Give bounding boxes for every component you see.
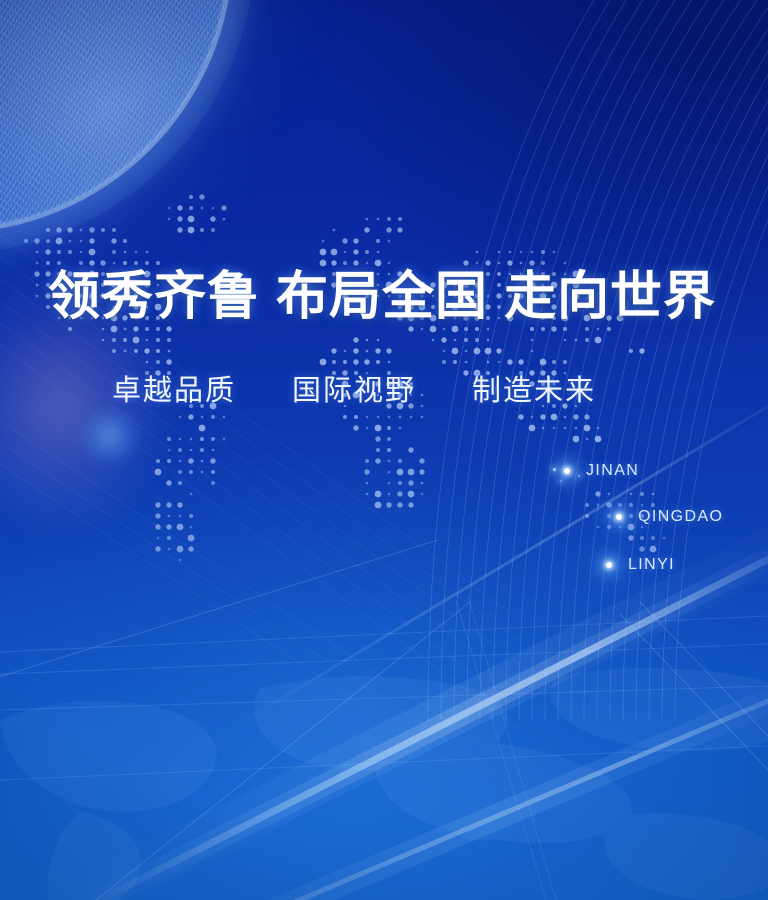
dot-matrix-world-map xyxy=(0,182,768,652)
city-marker-jinan[interactable]: JINAN xyxy=(564,462,639,480)
earth-surface-texture xyxy=(0,0,230,230)
perspective-grid-lines xyxy=(0,540,768,900)
city-marker-qingdao[interactable]: QINGDAO xyxy=(616,508,723,526)
earth-atmosphere-rim xyxy=(0,0,233,233)
earth-globe-limb xyxy=(0,0,230,230)
earth-body xyxy=(0,0,230,230)
headline-part-2: 布局全国 xyxy=(276,269,488,326)
city-dot-marker-icon xyxy=(616,514,622,520)
city-label-jinan: JINAN xyxy=(586,462,639,480)
concentric-arc-swoosh-graphic xyxy=(258,0,768,720)
vignette-layer xyxy=(0,0,768,900)
subline-part-1: 卓越品质 xyxy=(112,375,236,407)
top-right-shadow-layer xyxy=(0,0,768,900)
hero-banner: 领秀齐鲁布局全国走向世界 卓越品质国际视野制造未来 JINAN QINGDAO … xyxy=(0,0,768,900)
earth-atmosphere-halo xyxy=(0,0,254,254)
city-label-qingdao: QINGDAO xyxy=(638,508,723,526)
center-glow-layer xyxy=(0,0,768,900)
sparkle-dot-c xyxy=(560,480,562,482)
banner-subheadline: 卓越品质国际视野制造未来 xyxy=(112,372,712,410)
subline-part-3: 制造未来 xyxy=(472,375,596,407)
city-marker-linyi[interactable]: LINYI xyxy=(606,556,675,574)
diagonal-light-streaks xyxy=(0,0,768,900)
banner-headline: 领秀齐鲁布局全国走向世界 xyxy=(48,268,738,328)
headline-part-1: 领秀齐鲁 xyxy=(48,269,260,326)
diagonal-ray-lines xyxy=(0,150,520,770)
continents-silhouette xyxy=(0,580,768,900)
sparkle-dot-a xyxy=(553,468,556,471)
city-dot-marker-icon xyxy=(606,562,612,568)
subline-part-2: 国际视野 xyxy=(292,375,416,407)
headline-part-3: 走向世界 xyxy=(504,269,716,326)
light-orb xyxy=(78,408,142,466)
city-label-linyi: LINYI xyxy=(628,556,675,574)
city-dot-marker-icon xyxy=(564,468,570,474)
